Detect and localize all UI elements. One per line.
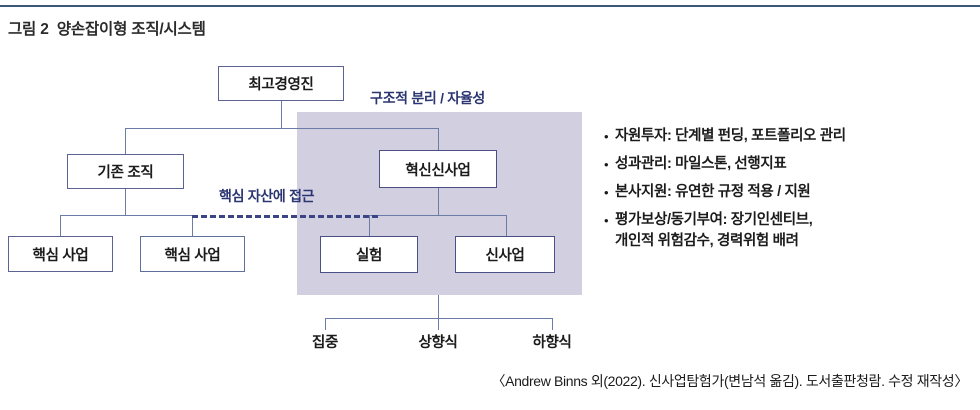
connector-innovation-stem [438, 188, 439, 215]
figure-page: 그림 2 양손잡이형 조직/시스템 최고경영진 [0, 0, 980, 410]
connector-to-existing-org [125, 128, 126, 154]
connector-to-top-down [552, 318, 553, 330]
bottom-label-focus: 집중 [312, 331, 338, 352]
bullet-dot-icon: • [604, 182, 615, 203]
node-core-business-2[interactable]: 핵심 사업 [140, 236, 245, 272]
connector-to-core-business-1 [60, 215, 61, 236]
bottom-label-top-down: 하향식 [532, 331, 571, 352]
bullet-dot-icon: • [604, 154, 615, 175]
bullet-text: 평가보상/동기부여: 장기인센티브, 개인적 위험감수, 경력위험 배려 [615, 210, 812, 252]
connector-to-experiment [369, 215, 370, 236]
connector-to-bottom-up [438, 318, 439, 330]
core-asset-access-dashed-line [192, 215, 378, 218]
connector-existing-org-stem [125, 189, 126, 215]
node-experiment[interactable]: 실험 [320, 236, 418, 273]
list-item: • 본사지원: 유연한 규정 적용 / 지원 [604, 182, 980, 203]
label-core-asset-access: 핵심 자산에 접근 [219, 186, 314, 206]
connector-to-core-business-2 [192, 215, 193, 236]
connector-ceo-stem [281, 100, 282, 128]
connector-innovation-split [369, 215, 506, 216]
connector-to-innovation [438, 128, 439, 150]
bullet-dot-icon: • [604, 210, 615, 231]
node-innovation-new-business[interactable]: 혁신신사업 [379, 150, 497, 188]
bullet-dot-icon: • [604, 126, 615, 147]
connector-bottom-stem [438, 295, 439, 318]
list-item: • 평가보상/동기부여: 장기인센티브, 개인적 위험감수, 경력위험 배려 [604, 210, 980, 252]
label-structural-separation: 구조적 분리 / 자율성 [370, 88, 485, 108]
connector-ceo-split [125, 128, 439, 129]
bullet-text: 성과관리: 마일스톤, 선행지표 [615, 154, 786, 175]
source-citation: 〈Andrew Binns 외(2022). 신사업탐험가(변남석 옮김). 도… [491, 371, 968, 391]
list-item: • 성과관리: 마일스톤, 선행지표 [604, 154, 980, 175]
node-existing-org[interactable]: 기존 조직 [67, 154, 184, 189]
bullet-list: • 자원투자: 단계별 펀딩, 포트폴리오 관리 • 성과관리: 마일스톤, 선… [604, 126, 980, 259]
node-new-business[interactable]: 신사업 [455, 236, 555, 273]
list-item: • 자원투자: 단계별 펀딩, 포트폴리오 관리 [604, 126, 980, 147]
connector-to-new-business [506, 215, 507, 236]
bullet-text: 자원투자: 단계별 펀딩, 포트폴리오 관리 [615, 126, 846, 147]
bottom-label-bottom-up: 상향식 [418, 331, 457, 352]
connector-to-focus [325, 318, 326, 330]
node-top-management[interactable]: 최고경영진 [218, 66, 344, 101]
bullet-text: 본사지원: 유연한 규정 적용 / 지원 [615, 182, 810, 203]
node-core-business-1[interactable]: 핵심 사업 [8, 236, 113, 272]
connector-existing-org-split [60, 215, 192, 216]
